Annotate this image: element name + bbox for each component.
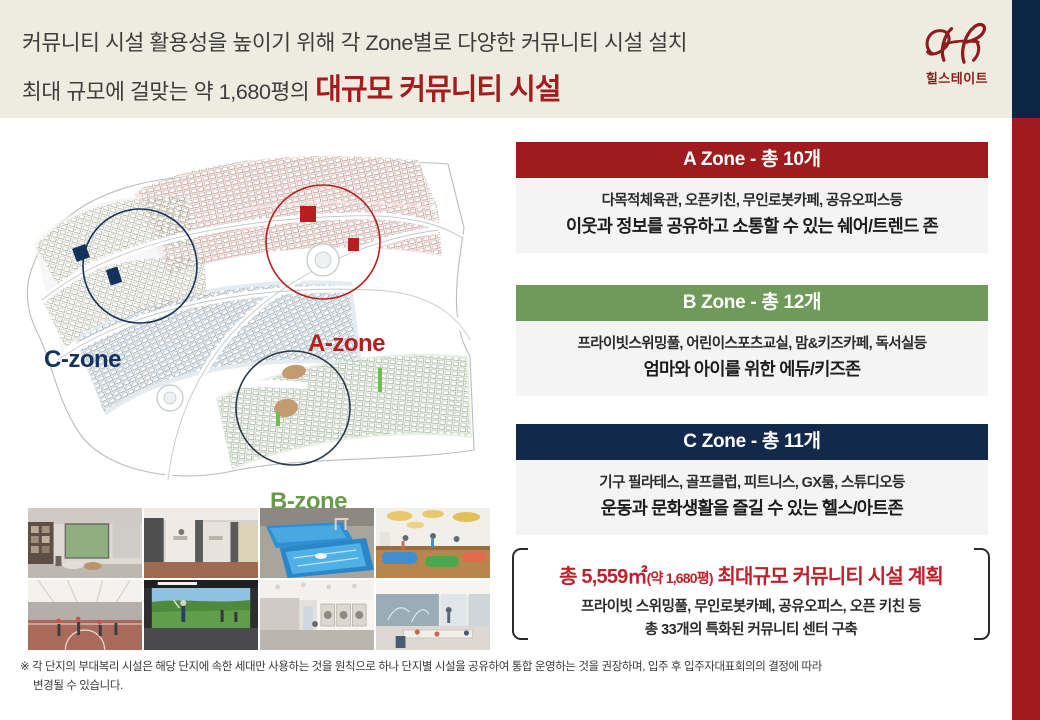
site-master-plan: C-zone A-zone B-zone bbox=[18, 150, 488, 480]
photo-laundry-cafe bbox=[260, 580, 374, 650]
hillstate-logo: 힐스테이트 bbox=[918, 22, 996, 87]
zone-label-c: C-zone bbox=[44, 346, 121, 374]
hillstate-h-monogram-icon bbox=[919, 22, 996, 66]
zone-card-b[interactable]: B Zone - 총 12개 프라이빗스위밍풀, 어린이스포츠교실, 맘&키즈카… bbox=[516, 285, 988, 396]
edge-bar-navy bbox=[1012, 0, 1040, 118]
zone-card-a-maintext: 이웃과 정보를 공유하고 소통할 수 있는 쉐어/트렌드 존 bbox=[526, 215, 978, 238]
zone-card-a-title: A Zone - 총 10개 bbox=[516, 142, 988, 178]
photo-golf-screen-club bbox=[144, 580, 258, 650]
zone-label-a: A-zone bbox=[308, 330, 385, 358]
footer-line-1: ※ 각 단지의 부대복리 시설은 해당 단지에 속한 세대만 사용하는 것을 원… bbox=[20, 658, 980, 677]
footer-line-2: 변경될 수 있습니다. bbox=[33, 677, 980, 696]
photo-lounge-library bbox=[28, 508, 142, 578]
bracket-right bbox=[974, 548, 990, 640]
zone-card-b-maintext: 엄마와 아이를 위한 에듀/키즈존 bbox=[526, 358, 978, 381]
summary-title-area: 총 5,559㎡ bbox=[559, 566, 647, 588]
zone-card-c[interactable]: C Zone - 총 11개 기구 필라테스, 골프클럽, 피트니스, GX룸,… bbox=[516, 424, 988, 535]
photo-art-studio-class bbox=[376, 580, 490, 650]
photo-multipurpose-gym bbox=[28, 580, 142, 650]
zone-card-a-body: 다목적체육관, 오픈키친, 무인로봇카페, 공유오피스등 이웃과 정보를 공유하… bbox=[516, 178, 988, 253]
zone-card-b-body: 프라이빗스위밍풀, 어린이스포츠교실, 맘&키즈카페, 독서실등 엄마와 아이를… bbox=[516, 321, 988, 396]
summary-line-2: 총 33개의 특화된 커뮤니티 센터 구축 bbox=[532, 618, 970, 639]
facility-photo-grid bbox=[28, 508, 490, 650]
summary-line-1: 프라이빗 스위밍풀, 무인로봇카페, 공유오피스, 오픈 키친 등 bbox=[532, 595, 970, 616]
zone-card-a[interactable]: A Zone - 총 10개 다목적체육관, 오픈키친, 무인로봇카페, 공유오… bbox=[516, 142, 988, 253]
header-line-2-accent: 대규모 커뮤니티 시설 bbox=[315, 74, 560, 106]
header-line-1: 커뮤니티 시설 활용성을 높이기 위해 각 Zone별로 다양한 커뮤니티 시설… bbox=[22, 26, 687, 57]
summary-box: 총 5,559㎡(약 1,680평) 최대규모 커뮤니티 시설 계획 프라이빗 … bbox=[512, 548, 990, 640]
zone-card-a-subtext: 다목적체육관, 오픈키친, 무인로봇카페, 공유오피스등 bbox=[526, 192, 978, 212]
header-band: 커뮤니티 시설 활용성을 높이기 위해 각 Zone별로 다양한 커뮤니티 시설… bbox=[0, 0, 1012, 118]
summary-title-label: 최대규모 커뮤니티 시설 계획 bbox=[717, 566, 942, 588]
bracket-left bbox=[512, 548, 528, 640]
photo-swimming-pool bbox=[260, 508, 374, 578]
header-line-2-plain: 최대 규모에 걸맞는 약 1,680평의 bbox=[22, 80, 309, 104]
slide-root: 커뮤니티 시설 활용성을 높이기 위해 각 Zone별로 다양한 커뮤니티 시설… bbox=[0, 0, 1040, 720]
footer-disclaimer: ※ 각 단지의 부대복리 시설은 해당 단지에 속한 세대만 사용하는 것을 원… bbox=[20, 658, 980, 696]
summary-title-pyeong: (약 1,680평) bbox=[647, 570, 713, 586]
zone-card-c-body: 기구 필라테스, 골프클럽, 피트니스, GX룸, 스튜디오등 운동과 문화생활… bbox=[516, 460, 988, 535]
header-line-2: 최대 규모에 걸맞는 약 1,680평의대규모 커뮤니티 시설 bbox=[22, 66, 561, 108]
summary-content: 총 5,559㎡(약 1,680평) 최대규모 커뮤니티 시설 계획 프라이빗 … bbox=[532, 560, 970, 639]
logo-text: 힐스테이트 bbox=[918, 68, 996, 87]
zone-card-c-maintext: 운동과 문화생활을 즐길 수 있는 헬스/아트존 bbox=[526, 497, 978, 520]
edge-bar-red bbox=[1012, 118, 1040, 720]
photo-kids-playroom bbox=[376, 508, 490, 578]
photo-study-rooms bbox=[144, 508, 258, 578]
zone-card-b-title: B Zone - 총 12개 bbox=[516, 285, 988, 321]
zone-card-c-subtext: 기구 필라테스, 골프클럽, 피트니스, GX룸, 스튜디오등 bbox=[526, 474, 978, 494]
site-plan-drawing bbox=[18, 150, 488, 480]
zone-card-b-subtext: 프라이빗스위밍풀, 어린이스포츠교실, 맘&키즈카페, 독서실등 bbox=[526, 335, 978, 355]
summary-title: 총 5,559㎡(약 1,680평) 최대규모 커뮤니티 시설 계획 bbox=[532, 560, 970, 589]
zone-card-c-title: C Zone - 총 11개 bbox=[516, 424, 988, 460]
